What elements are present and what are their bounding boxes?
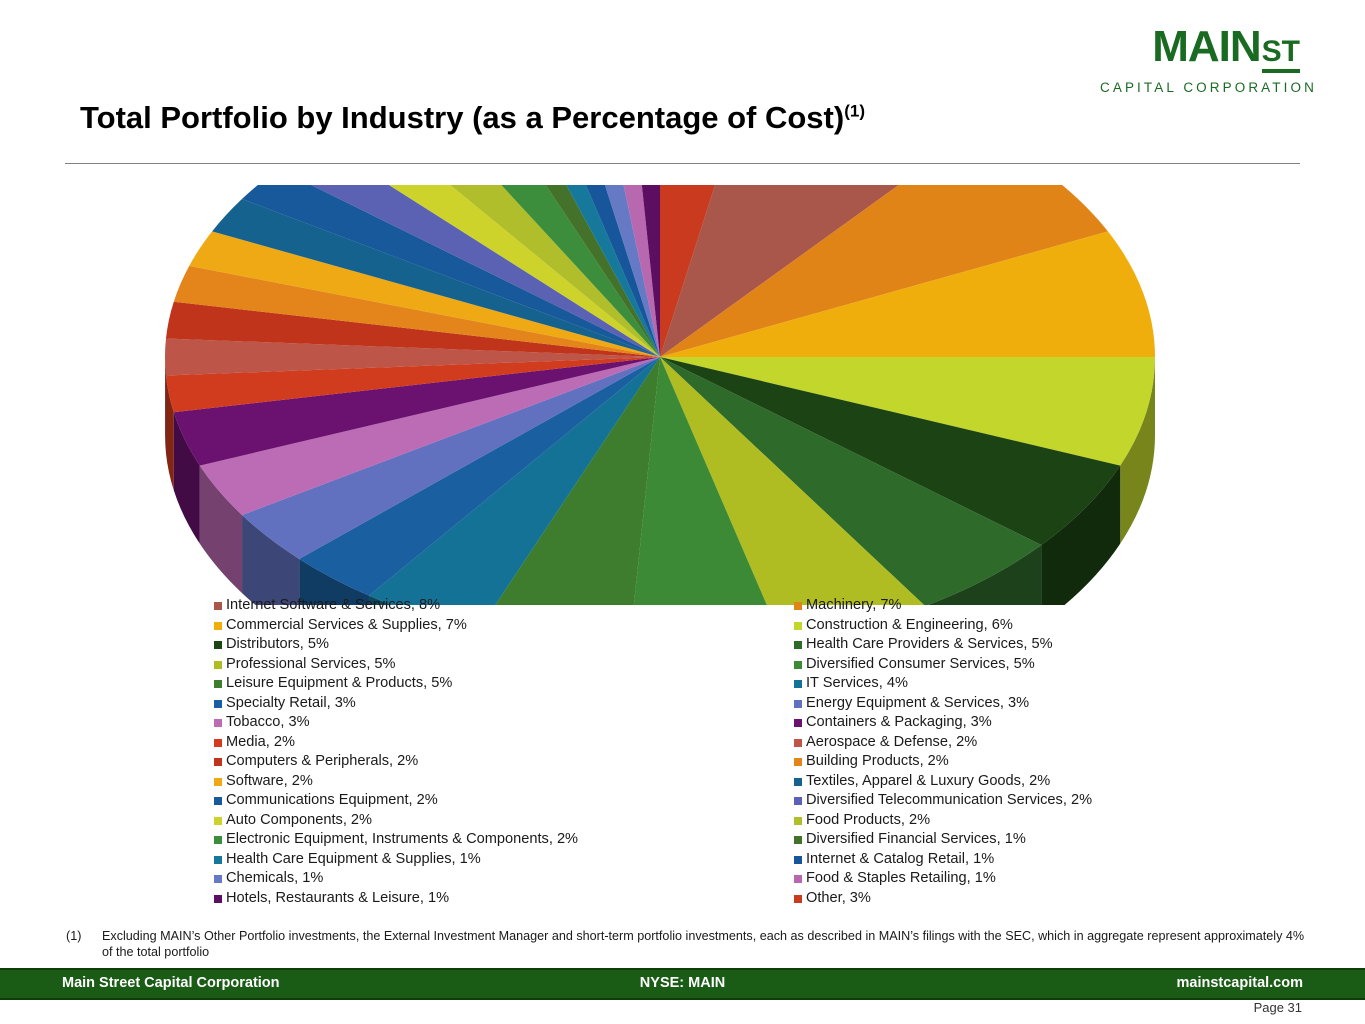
legend-swatch [794,875,802,883]
legend-item[interactable]: Tobacco, 3% [214,713,794,733]
logo-main-text: MAIN [1152,22,1260,71]
legend-label: Health Care Equipment & Supplies, 1% [226,850,481,870]
legend-label: Specialty Retail, 3% [226,694,356,714]
legend-item[interactable]: Building Products, 2% [794,752,1314,772]
legend-label: Commercial Services & Supplies, 7% [226,616,467,636]
legend-label: Food & Staples Retailing, 1% [806,869,996,889]
legend-label: Textiles, Apparel & Luxury Goods, 2% [806,772,1050,792]
legend-label: Internet & Catalog Retail, 1% [806,850,994,870]
legend-item[interactable]: Professional Services, 5% [214,655,794,675]
legend-item[interactable]: Media, 2% [214,733,794,753]
legend-swatch [794,700,802,708]
legend-swatch [794,797,802,805]
legend-item[interactable]: Energy Equipment & Services, 3% [794,694,1314,714]
legend-label: Machinery, 7% [806,596,901,616]
legend-item[interactable]: Electronic Equipment, Instruments & Comp… [214,830,794,850]
legend-swatch [214,895,222,903]
legend-label: Other, 3% [806,889,871,909]
legend-label: Computers & Peripherals, 2% [226,752,418,772]
logo-subtitle: CAPITAL CORPORATION [1100,80,1300,95]
legend-swatch [794,778,802,786]
legend-label: Food Products, 2% [806,811,930,831]
legend-swatch [214,778,222,786]
footer-bar: Main Street Capital Corporation NYSE: MA… [0,968,1365,1000]
legend-label: Diversified Financial Services, 1% [806,830,1026,850]
pie-chart-svg: OtherInternet Software & ServicesMachine… [150,185,1210,605]
legend-item[interactable]: Diversified Consumer Services, 5% [794,655,1314,675]
legend-column-left: Internet Software & Services, 8%Commerci… [214,596,794,908]
legend-label: Leisure Equipment & Products, 5% [226,674,452,694]
legend-item[interactable]: Construction & Engineering, 6% [794,616,1314,636]
legend-swatch [794,641,802,649]
legend-swatch [214,700,222,708]
page-title: Total Portfolio by Industry (as a Percen… [80,100,865,136]
legend-item[interactable]: Specialty Retail, 3% [214,694,794,714]
legend-label: Building Products, 2% [806,752,949,772]
legend-swatch [214,739,222,747]
legend-swatch [794,739,802,747]
legend-item[interactable]: Communications Equipment, 2% [214,791,794,811]
legend-item[interactable]: Software, 2% [214,772,794,792]
legend-label: Auto Components, 2% [226,811,372,831]
legend-swatch [214,875,222,883]
legend-swatch [214,661,222,669]
company-logo: MAINST CAPITAL CORPORATION [1100,24,1300,95]
legend-label: Electronic Equipment, Instruments & Comp… [226,830,578,850]
legend-label: Construction & Engineering, 6% [806,616,1013,636]
chart-legend: Internet Software & Services, 8%Commerci… [214,596,1314,908]
legend-item[interactable]: Internet & Catalog Retail, 1% [794,850,1314,870]
legend-item[interactable]: Chemicals, 1% [214,869,794,889]
legend-label: Aerospace & Defense, 2% [806,733,977,753]
legend-item[interactable]: IT Services, 4% [794,674,1314,694]
legend-item[interactable]: Food Products, 2% [794,811,1314,831]
legend-swatch [794,836,802,844]
legend-swatch [214,602,222,610]
legend-swatch [214,856,222,864]
footnote-text: Excluding MAIN’s Other Portfolio investm… [102,928,1306,960]
pie-chart: OtherInternet Software & ServicesMachine… [150,185,1210,605]
legend-label: Diversified Consumer Services, 5% [806,655,1035,675]
legend-item[interactable]: Machinery, 7% [794,596,1314,616]
legend-label: Containers & Packaging, 3% [806,713,992,733]
legend-item[interactable]: Diversified Financial Services, 1% [794,830,1314,850]
legend-swatch [794,622,802,630]
legend-swatch [794,895,802,903]
footnote-marker: (1) [66,928,102,960]
footnote: (1) Excluding MAIN’s Other Portfolio inv… [66,928,1306,960]
legend-swatch [794,680,802,688]
legend-label: Communications Equipment, 2% [226,791,438,811]
legend-swatch [794,817,802,825]
page-title-text: Total Portfolio by Industry (as a Percen… [80,100,844,135]
legend-label: IT Services, 4% [806,674,908,694]
legend-swatch [214,797,222,805]
legend-item[interactable]: Hotels, Restaurants & Leisure, 1% [214,889,794,909]
legend-swatch [214,817,222,825]
legend-item[interactable]: Textiles, Apparel & Luxury Goods, 2% [794,772,1314,792]
legend-label: Hotels, Restaurants & Leisure, 1% [226,889,449,909]
legend-item[interactable]: Diversified Telecommunication Services, … [794,791,1314,811]
footer-ticker: NYSE: MAIN [640,975,725,991]
title-divider [65,163,1300,164]
legend-swatch [214,641,222,649]
legend-item[interactable]: Internet Software & Services, 8% [214,596,794,616]
legend-label: Diversified Telecommunication Services, … [806,791,1092,811]
legend-item[interactable]: Containers & Packaging, 3% [794,713,1314,733]
legend-label: Software, 2% [226,772,313,792]
legend-item[interactable]: Distributors, 5% [214,635,794,655]
legend-swatch [794,758,802,766]
footer-company-name: Main Street Capital Corporation [62,975,280,991]
legend-label: Media, 2% [226,733,295,753]
legend-item[interactable]: Aerospace & Defense, 2% [794,733,1314,753]
legend-label: Health Care Providers & Services, 5% [806,635,1053,655]
legend-label: Internet Software & Services, 8% [226,596,440,616]
legend-item[interactable]: Leisure Equipment & Products, 5% [214,674,794,694]
legend-item[interactable]: Auto Components, 2% [214,811,794,831]
legend-item[interactable]: Food & Staples Retailing, 1% [794,869,1314,889]
page-number: Page 31 [1254,1000,1302,1015]
legend-swatch [214,719,222,727]
legend-label: Chemicals, 1% [226,869,323,889]
legend-item[interactable]: Other, 3% [794,889,1314,909]
legend-column-right: Machinery, 7%Construction & Engineering,… [794,596,1314,908]
logo-wordmark: MAINST [1100,24,1300,75]
legend-swatch [794,856,802,864]
legend-item[interactable]: Computers & Peripherals, 2% [214,752,794,772]
legend-label: Professional Services, 5% [226,655,396,675]
legend-swatch [214,622,222,630]
pie-top-faces: OtherInternet Software & ServicesMachine… [165,185,1155,605]
legend-label: Distributors, 5% [226,635,329,655]
logo-st-text: ST [1262,35,1300,73]
legend-item[interactable]: Commercial Services & Supplies, 7% [214,616,794,636]
legend-item[interactable]: Health Care Equipment & Supplies, 1% [214,850,794,870]
legend-swatch [794,602,802,610]
legend-swatch [214,758,222,766]
legend-swatch [794,719,802,727]
legend-swatch [214,680,222,688]
page-title-footnote-marker: (1) [844,102,865,121]
legend-item[interactable]: Health Care Providers & Services, 5% [794,635,1314,655]
legend-label: Energy Equipment & Services, 3% [806,694,1029,714]
legend-swatch [214,836,222,844]
legend-label: Tobacco, 3% [226,713,310,733]
footer-website[interactable]: mainstcapital.com [1176,975,1303,991]
legend-swatch [794,661,802,669]
